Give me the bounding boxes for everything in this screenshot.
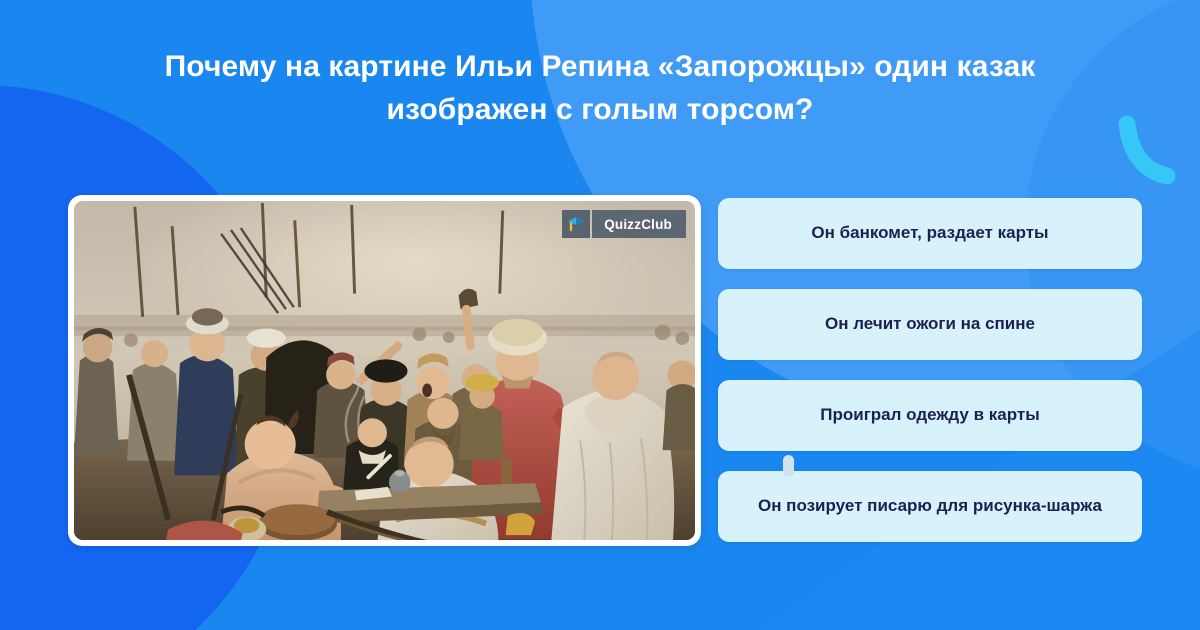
answer-options-list: Он банкомет, раздает карты Он лечит ожог…: [718, 198, 1142, 542]
answer-option-4-label: Он позирует писарю для рисунка-шаржа: [758, 495, 1102, 517]
answer-option-3-label: Проиграл одежду в карты: [820, 404, 1039, 426]
painting-image: QuizzClub: [74, 201, 695, 540]
watermark-badge: QuizzClub: [562, 210, 686, 238]
option-drag-handle[interactable]: [783, 455, 794, 477]
answer-option-1[interactable]: Он банкомет, раздает карты: [718, 198, 1142, 269]
graduation-cap-icon: [566, 214, 586, 234]
watermark-label: QuizzClub: [592, 210, 686, 238]
page-title: Почему на картине Ильи Репина «Запорожцы…: [100, 46, 1100, 131]
painting-illustration-svg: [74, 201, 695, 540]
answer-option-3[interactable]: Проиграл одежду в карты: [718, 380, 1142, 451]
answer-option-1-label: Он банкомет, раздает карты: [811, 222, 1048, 244]
question-image-card: QuizzClub: [68, 195, 701, 546]
quizzclub-logo: [562, 210, 590, 238]
answer-option-2[interactable]: Он лечит ожоги на спине: [718, 289, 1142, 360]
answer-option-4[interactable]: Он позирует писарю для рисунка-шаржа: [718, 471, 1142, 542]
answer-option-2-label: Он лечит ожоги на спине: [825, 313, 1035, 335]
